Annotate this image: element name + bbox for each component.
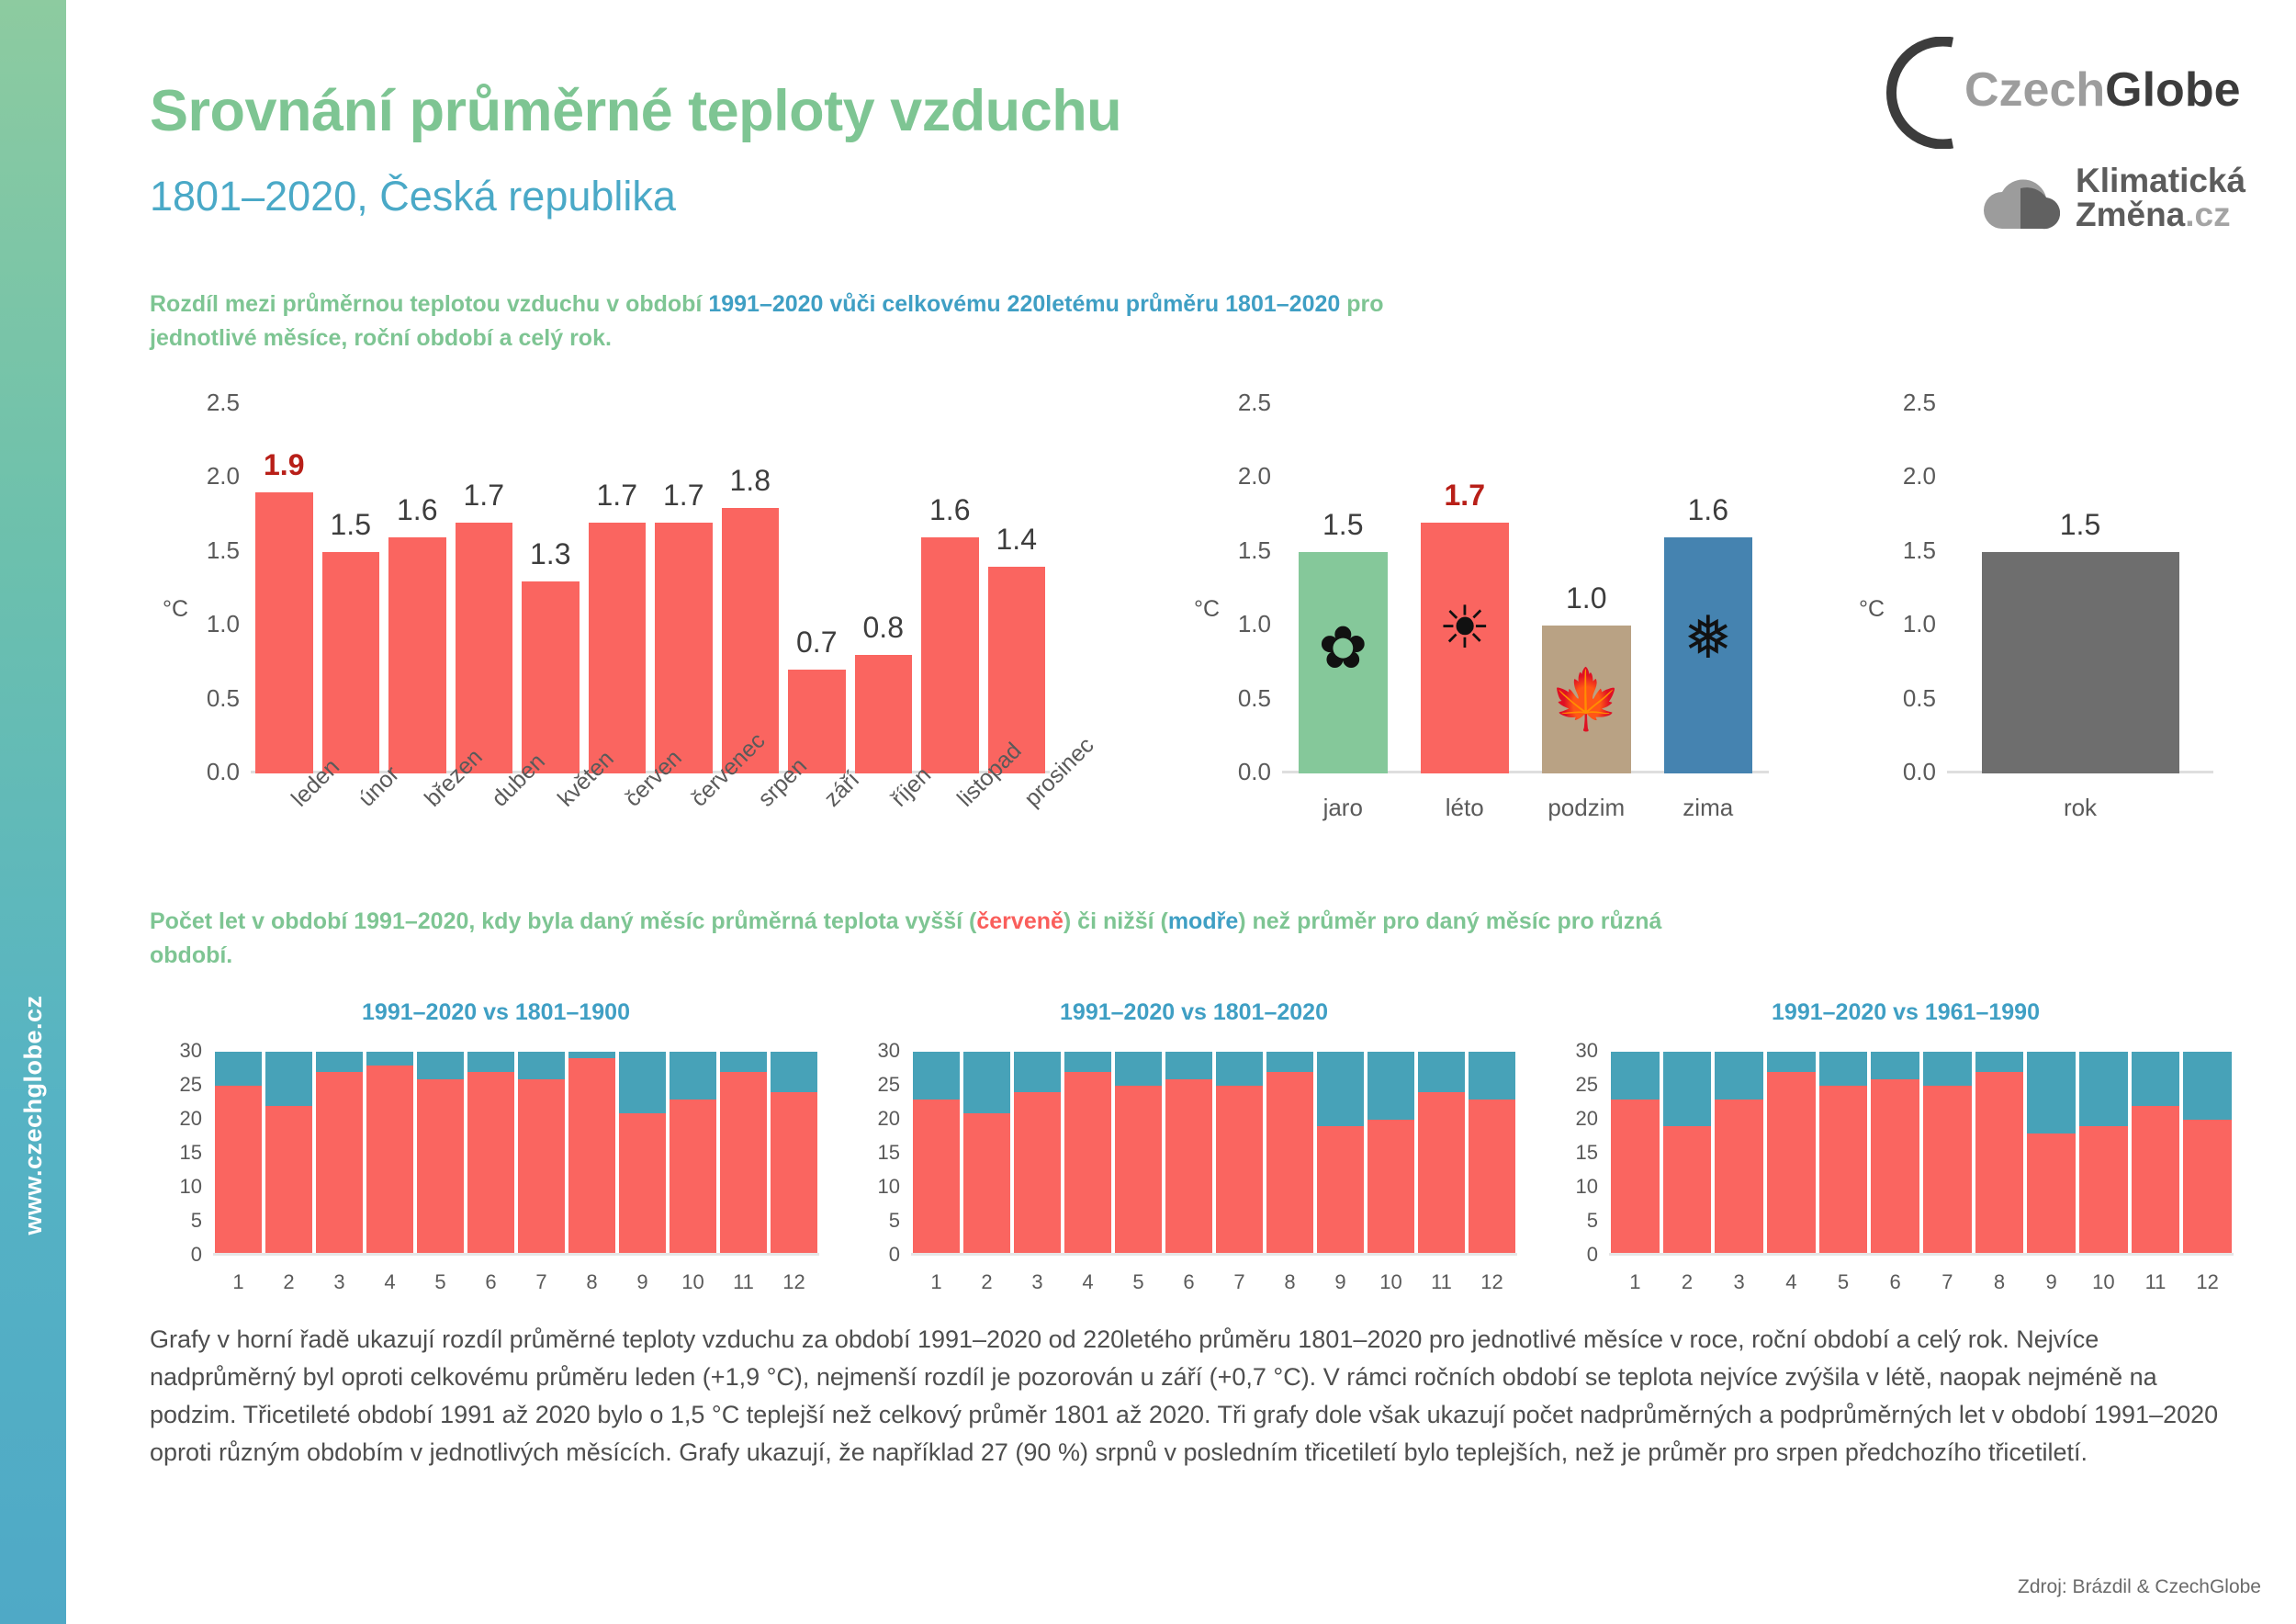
bar-value-label: 1.7 xyxy=(589,479,647,513)
y-axis-tick: 2.0 xyxy=(1875,462,1936,491)
czechglobe-word-light: Czech xyxy=(1964,63,2105,117)
stacked-bar-month-12[interactable] xyxy=(1469,1052,1515,1256)
stacked-bar-month-4[interactable] xyxy=(366,1052,413,1256)
bar-value-label: 1.6 xyxy=(388,493,446,527)
stacked-bar-month-10[interactable] xyxy=(1367,1052,1414,1256)
y-axis-tick: 0.5 xyxy=(179,684,240,713)
colder-years-segment xyxy=(1266,1052,1313,1072)
warmer-years-segment xyxy=(1165,1079,1212,1256)
stacked-bar-month-11[interactable] xyxy=(2132,1052,2180,1256)
x-axis-tick: 1 xyxy=(215,1270,262,1294)
warmer-years-segment xyxy=(1923,1086,1972,1256)
sun-icon: ☀ xyxy=(1421,598,1510,657)
colder-years-segment xyxy=(913,1052,960,1100)
plot-area xyxy=(1947,404,2213,773)
warmer-years-segment xyxy=(1115,1086,1162,1256)
x-axis-tick: 6 xyxy=(467,1270,514,1294)
colder-years-segment xyxy=(1165,1052,1212,1079)
colder-years-segment xyxy=(568,1052,615,1058)
stacked-bar-month-3[interactable] xyxy=(1715,1052,1763,1256)
bar-březen[interactable] xyxy=(388,537,446,773)
czechglobe-arc-icon xyxy=(1877,37,1969,149)
y-axis-tick: 20 xyxy=(854,1107,900,1131)
warmer-years-segment xyxy=(1767,1072,1816,1256)
y-axis-tick: 25 xyxy=(156,1073,202,1097)
stacked-bar-month-4[interactable] xyxy=(1064,1052,1111,1256)
warmer-years-segment xyxy=(1819,1086,1868,1256)
colder-years-segment xyxy=(1469,1052,1515,1100)
plot-area xyxy=(251,404,1050,773)
y-axis-tick: 0.0 xyxy=(1210,758,1271,786)
x-axis-tick: 12 xyxy=(771,1270,817,1294)
plot-area xyxy=(911,1052,1517,1256)
x-axis-tick: 3 xyxy=(1715,1270,1763,1294)
x-axis-tick: 10 xyxy=(670,1270,716,1294)
colder-years-segment xyxy=(1418,1052,1465,1092)
x-axis-tick: 11 xyxy=(1418,1270,1465,1294)
left-brand-bar: www.czechglobe.cz xyxy=(0,0,66,1624)
x-axis-tick: 11 xyxy=(2132,1270,2180,1294)
caption-lower-charts: Počet let v období 1991–2020, kdy byla d… xyxy=(150,905,1711,973)
x-axis-tick: 3 xyxy=(1014,1270,1061,1294)
x-axis-tick: 5 xyxy=(417,1270,464,1294)
stacked-bar-month-9[interactable] xyxy=(1317,1052,1364,1256)
warmer-years-segment xyxy=(568,1058,615,1256)
chart-title: 1991–2020 vs 1801–2020 xyxy=(845,999,1543,1026)
x-axis-tick: 5 xyxy=(1819,1270,1868,1294)
stacked-bar-month-1[interactable] xyxy=(215,1052,262,1256)
plot-area: ✿☀🍁❅ xyxy=(1282,404,1769,773)
y-axis-tick: 1.5 xyxy=(179,536,240,565)
bar-rok[interactable] xyxy=(1982,552,2179,773)
chart-monthly-anomaly: 0.00.51.01.52.02.5°C1.9leden1.5únor1.6bř… xyxy=(150,360,1151,856)
warmer-years-segment xyxy=(1266,1072,1313,1256)
warmer-years-segment xyxy=(518,1079,565,1256)
bar-květen[interactable] xyxy=(522,581,580,773)
stacked-bar-month-1[interactable] xyxy=(913,1052,960,1256)
warmer-years-segment xyxy=(1611,1100,1660,1256)
x-axis-tick: 1 xyxy=(913,1270,960,1294)
colder-years-segment xyxy=(1611,1052,1660,1100)
caption-upper-part-0: Rozdíl mezi průměrnou teplotou vzduchu v… xyxy=(150,291,708,317)
x-axis-category-label: září xyxy=(819,767,865,813)
footer-paragraph: Grafy v horní řadě ukazují rozdíl průměr… xyxy=(150,1321,2221,1472)
stacked-bar-month-9[interactable] xyxy=(2027,1052,2076,1256)
colder-years-segment xyxy=(1317,1052,1364,1126)
colder-years-segment xyxy=(2079,1052,2128,1126)
warmer-years-segment xyxy=(1317,1126,1364,1256)
czechglobe-logo: CzechGlobe xyxy=(1877,37,2263,149)
y-axis-tick: 2.5 xyxy=(1210,389,1271,417)
colder-years-segment xyxy=(518,1052,565,1079)
x-axis-tick: 2 xyxy=(963,1270,1010,1294)
x-axis-tick: 12 xyxy=(1469,1270,1515,1294)
warmer-years-segment xyxy=(619,1113,666,1256)
colder-years-segment xyxy=(2183,1052,2232,1120)
y-axis-tick: 1.5 xyxy=(1875,536,1936,565)
caption-upper-part-1: 1991–2020 vůči celkovému 220letému průmě… xyxy=(708,291,1340,317)
bar-value-label: 1.6 xyxy=(1664,493,1753,527)
stacked-bar-month-1[interactable] xyxy=(1611,1052,1660,1256)
x-axis-tick: 6 xyxy=(1165,1270,1212,1294)
colder-years-segment xyxy=(366,1052,413,1066)
bar-value-label: 1.7 xyxy=(655,479,713,513)
plot-area xyxy=(213,1052,819,1256)
warmer-years-segment xyxy=(720,1072,767,1256)
colder-years-segment xyxy=(316,1052,363,1072)
bar-listopad[interactable] xyxy=(921,537,979,773)
y-axis-tick: 20 xyxy=(156,1107,202,1131)
bar-duben[interactable] xyxy=(456,523,513,773)
warmer-years-segment xyxy=(1418,1092,1465,1256)
x-axis-tick: 8 xyxy=(1975,1270,2024,1294)
x-axis-tick: 4 xyxy=(366,1270,413,1294)
chart-seasonal-anomaly: 0.00.51.01.52.02.5°C✿☀🍁❅1.5jaro1.7léto1.… xyxy=(1172,360,1815,856)
stacked-bar-month-12[interactable] xyxy=(2183,1052,2232,1256)
warmer-years-segment xyxy=(467,1072,514,1256)
y-axis-tick: 0 xyxy=(156,1243,202,1267)
warmer-years-segment xyxy=(215,1086,262,1256)
stacked-bar-month-2[interactable] xyxy=(963,1052,1010,1256)
czechglobe-wordmark: CzechGlobe xyxy=(1964,62,2241,118)
y-axis-tick: 0.5 xyxy=(1210,684,1271,713)
x-axis-tick: 5 xyxy=(1115,1270,1162,1294)
colder-years-segment xyxy=(467,1052,514,1072)
warmer-years-segment xyxy=(1216,1086,1263,1256)
y-axis-tick: 15 xyxy=(854,1141,900,1165)
colder-years-segment xyxy=(417,1052,464,1079)
y-axis-tick: 10 xyxy=(156,1175,202,1199)
stacked-bar-month-8[interactable] xyxy=(1975,1052,2024,1256)
bar-value-label: 1.7 xyxy=(456,479,513,513)
y-axis-tick: 10 xyxy=(1552,1175,1598,1199)
y-axis-tick: 2.5 xyxy=(1875,389,1936,417)
caption-lower-part-0: Počet let v období 1991–2020, kdy byla d… xyxy=(150,908,976,934)
bar-zima[interactable]: ❅ xyxy=(1664,537,1753,773)
x-axis-tick: 2 xyxy=(265,1270,312,1294)
x-axis-line xyxy=(1609,1253,2234,1256)
snowflake-icon: ❅ xyxy=(1664,608,1753,667)
y-axis-tick: 5 xyxy=(1552,1209,1598,1233)
warmer-years-segment xyxy=(1715,1100,1763,1256)
caption-lower-part-2: ) či nižší ( xyxy=(1064,908,1168,934)
x-axis-category-label: zima xyxy=(1664,794,1753,822)
colder-years-segment xyxy=(1715,1052,1763,1100)
bar-value-label: 0.8 xyxy=(855,611,913,645)
colder-years-segment xyxy=(265,1052,312,1106)
y-axis-tick: 0.0 xyxy=(179,758,240,786)
stacked-bar-month-12[interactable] xyxy=(771,1052,817,1256)
warmer-years-segment xyxy=(316,1072,363,1256)
colder-years-segment xyxy=(1871,1052,1919,1079)
warmer-years-segment xyxy=(670,1100,716,1256)
page-subtitle: 1801–2020, Česká republika xyxy=(150,173,676,220)
y-axis-tick: 10 xyxy=(854,1175,900,1199)
stacked-bar-month-11[interactable] xyxy=(1418,1052,1465,1256)
chart-counts-vs-1801-2020: 1991–2020 vs 1801–2020051015202530123456… xyxy=(845,999,1543,1266)
stacked-bar-month-8[interactable] xyxy=(1266,1052,1313,1256)
stacked-bar-month-8[interactable] xyxy=(568,1052,615,1256)
stacked-bar-month-3[interactable] xyxy=(316,1052,363,1256)
y-axis-tick: 15 xyxy=(1552,1141,1598,1165)
bar-léto[interactable]: ☀ xyxy=(1421,523,1510,773)
y-axis-tick: 2.0 xyxy=(179,462,240,491)
colder-years-segment xyxy=(963,1052,1010,1113)
y-axis-tick: 5 xyxy=(156,1209,202,1233)
caption-lower-part-1: červeně xyxy=(976,908,1064,934)
y-axis-tick: 30 xyxy=(854,1039,900,1063)
x-axis-tick: 4 xyxy=(1064,1270,1111,1294)
chart-counts-vs-1801-1900: 1991–2020 vs 1801–1900051015202530123456… xyxy=(147,999,845,1266)
stacked-bar-month-6[interactable] xyxy=(1165,1052,1212,1256)
stacked-bar-month-10[interactable] xyxy=(2079,1052,2128,1256)
x-axis-category-label: podzim xyxy=(1542,794,1631,822)
x-axis-tick: 9 xyxy=(2027,1270,2076,1294)
x-axis-category-label: jaro xyxy=(1299,794,1388,822)
klimaticka-line1: Klimatická xyxy=(2076,164,2245,197)
bar-value-label: 1.9 xyxy=(255,448,313,482)
x-axis-tick: 8 xyxy=(1266,1270,1313,1294)
stacked-bar-month-3[interactable] xyxy=(1014,1052,1061,1256)
warmer-years-segment xyxy=(1469,1100,1515,1256)
x-axis-tick: 9 xyxy=(1317,1270,1364,1294)
stacked-bar-month-7[interactable] xyxy=(518,1052,565,1256)
klimaticka-tld: .cz xyxy=(2185,196,2230,233)
source-note: Zdroj: Brázdil & CzechGlobe xyxy=(2018,1576,2261,1598)
warmer-years-segment xyxy=(366,1066,413,1256)
flower-icon: ✿ xyxy=(1299,618,1388,677)
bar-value-label: 1.4 xyxy=(988,523,1046,557)
colder-years-segment xyxy=(1975,1052,2024,1072)
klimaticka-zmena-wordmark: Klimatická Změna.cz xyxy=(2076,164,2245,231)
stacked-bar-month-5[interactable] xyxy=(417,1052,464,1256)
bar-value-label: 1.5 xyxy=(1299,508,1388,542)
stacked-bar-month-5[interactable] xyxy=(1819,1052,1868,1256)
bar-jaro[interactable]: ✿ xyxy=(1299,552,1388,773)
x-axis-tick: 10 xyxy=(2079,1270,2128,1294)
warmer-years-segment xyxy=(1871,1079,1919,1256)
colder-years-segment xyxy=(1216,1052,1263,1086)
stacked-bar-month-4[interactable] xyxy=(1767,1052,1816,1256)
x-axis-tick: 7 xyxy=(518,1270,565,1294)
stacked-bar-month-5[interactable] xyxy=(1115,1052,1162,1256)
stacked-bar-month-6[interactable] xyxy=(467,1052,514,1256)
bar-value-label: 1.8 xyxy=(722,464,780,498)
y-axis-tick: 25 xyxy=(854,1073,900,1097)
warmer-years-segment xyxy=(963,1113,1010,1256)
maple-leaf-icon: 🍁 xyxy=(1542,670,1631,728)
warmer-years-segment xyxy=(417,1079,464,1256)
x-axis-tick: 8 xyxy=(568,1270,615,1294)
x-axis-tick: 12 xyxy=(2183,1270,2232,1294)
chart-title: 1991–2020 vs 1961–1990 xyxy=(1543,999,2268,1026)
stacked-bar-month-9[interactable] xyxy=(619,1052,666,1256)
bar-červen[interactable] xyxy=(589,523,647,773)
x-axis-tick: 7 xyxy=(1923,1270,1972,1294)
x-axis-tick: 2 xyxy=(1663,1270,1712,1294)
colder-years-segment xyxy=(670,1052,716,1100)
stacked-bar-month-11[interactable] xyxy=(720,1052,767,1256)
warmer-years-segment xyxy=(2132,1106,2180,1256)
y-axis-tick: 5 xyxy=(854,1209,900,1233)
stacked-bar-month-7[interactable] xyxy=(1923,1052,1972,1256)
y-axis-tick: 30 xyxy=(156,1039,202,1063)
warmer-years-segment xyxy=(1064,1072,1111,1256)
plot-area xyxy=(1609,1052,2234,1256)
klimaticka-line2: Změna xyxy=(2076,196,2185,233)
y-axis-tick: 0.0 xyxy=(1875,758,1936,786)
colder-years-segment xyxy=(619,1052,666,1113)
y-axis-tick: 2.0 xyxy=(1210,462,1271,491)
y-axis-tick: 30 xyxy=(1552,1039,1598,1063)
colder-years-segment xyxy=(1923,1052,1972,1086)
chart-counts-vs-1961-1990: 1991–2020 vs 1961–1990051015202530123456… xyxy=(1543,999,2268,1266)
stacked-bar-month-2[interactable] xyxy=(265,1052,312,1256)
x-axis-tick: 4 xyxy=(1767,1270,1816,1294)
bar-podzim[interactable]: 🍁 xyxy=(1542,626,1631,773)
stacked-bar-month-6[interactable] xyxy=(1871,1052,1919,1256)
colder-years-segment xyxy=(1064,1052,1111,1072)
stacked-bar-month-2[interactable] xyxy=(1663,1052,1712,1256)
warmer-years-segment xyxy=(1975,1072,2024,1256)
x-axis-tick: 3 xyxy=(316,1270,363,1294)
y-axis-tick: 0 xyxy=(854,1243,900,1267)
y-axis-tick: 15 xyxy=(156,1141,202,1165)
bar-value-label: 1.0 xyxy=(1542,581,1631,615)
cloud-icon xyxy=(1980,175,2063,232)
bar-value-label: 1.5 xyxy=(1982,508,2179,542)
bar-value-label: 0.7 xyxy=(788,626,846,660)
colder-years-segment xyxy=(1819,1052,1868,1086)
x-axis-tick: 9 xyxy=(619,1270,666,1294)
warmer-years-segment xyxy=(1014,1092,1061,1256)
y-axis-tick: 0.5 xyxy=(1875,684,1936,713)
warmer-years-segment xyxy=(1663,1126,1712,1256)
x-axis-tick: 10 xyxy=(1367,1270,1414,1294)
x-axis-line xyxy=(213,1253,819,1256)
y-axis-tick: 2.5 xyxy=(179,389,240,417)
czechglobe-word-dark: Globe xyxy=(2105,63,2240,117)
colder-years-segment xyxy=(771,1052,817,1092)
colder-years-segment xyxy=(1663,1052,1712,1126)
x-axis-tick: 11 xyxy=(720,1270,767,1294)
page-title: Srovnání průměrné teploty vzduchu xyxy=(150,78,1121,144)
x-axis-tick: 6 xyxy=(1871,1270,1919,1294)
bar-červenec[interactable] xyxy=(655,523,713,773)
warmer-years-segment xyxy=(265,1106,312,1256)
colder-years-segment xyxy=(1115,1052,1162,1086)
colder-years-segment xyxy=(1767,1052,1816,1072)
y-axis-unit-label: °C xyxy=(1194,596,1220,623)
y-axis-tick: 25 xyxy=(1552,1073,1598,1097)
bar-value-label: 1.3 xyxy=(522,537,580,571)
colder-years-segment xyxy=(720,1052,767,1072)
bar-value-label: 1.5 xyxy=(322,508,380,542)
colder-years-segment xyxy=(2027,1052,2076,1133)
warmer-years-segment xyxy=(2027,1133,2076,1256)
colder-years-segment xyxy=(1014,1052,1061,1092)
bar-value-label: 1.6 xyxy=(921,493,979,527)
x-axis-category-label: léto xyxy=(1421,794,1510,822)
x-axis-tick: 1 xyxy=(1611,1270,1660,1294)
y-axis-tick: 1.5 xyxy=(1210,536,1271,565)
warmer-years-segment xyxy=(913,1100,960,1256)
y-axis-tick: 0 xyxy=(1552,1243,1598,1267)
bar-únor[interactable] xyxy=(322,552,380,773)
bar-prosinec[interactable] xyxy=(988,567,1046,773)
bar-value-label: 1.7 xyxy=(1421,479,1510,513)
warmer-years-segment xyxy=(2183,1120,2232,1256)
colder-years-segment xyxy=(2132,1052,2180,1106)
chart-annual-anomaly: 0.00.51.01.52.02.5°C1.5rok xyxy=(1839,360,2270,856)
warmer-years-segment xyxy=(1367,1120,1414,1256)
bar-leden[interactable] xyxy=(255,492,313,773)
stacked-bar-month-10[interactable] xyxy=(670,1052,716,1256)
stacked-bar-month-7[interactable] xyxy=(1216,1052,1263,1256)
warmer-years-segment xyxy=(771,1092,817,1256)
x-axis-category-label: rok xyxy=(1982,794,2179,822)
y-axis-unit-label: °C xyxy=(163,596,188,623)
colder-years-segment xyxy=(215,1052,262,1086)
klimaticka-zmena-logo: Klimatická Změna.cz xyxy=(1967,161,2279,253)
caption-lower-part-3: modře xyxy=(1168,908,1238,934)
caption-upper-charts: Rozdíl mezi průměrnou teplotou vzduchu v… xyxy=(150,288,1435,355)
website-url: www.czechglobe.cz xyxy=(0,0,66,1624)
colder-years-segment xyxy=(1367,1052,1414,1120)
y-axis-unit-label: °C xyxy=(1859,596,1885,623)
chart-title: 1991–2020 vs 1801–1900 xyxy=(147,999,845,1026)
y-axis-tick: 20 xyxy=(1552,1107,1598,1131)
bar-říjen[interactable] xyxy=(855,655,913,773)
x-axis-tick: 7 xyxy=(1216,1270,1263,1294)
x-axis-line xyxy=(911,1253,1517,1256)
warmer-years-segment xyxy=(2079,1126,2128,1256)
